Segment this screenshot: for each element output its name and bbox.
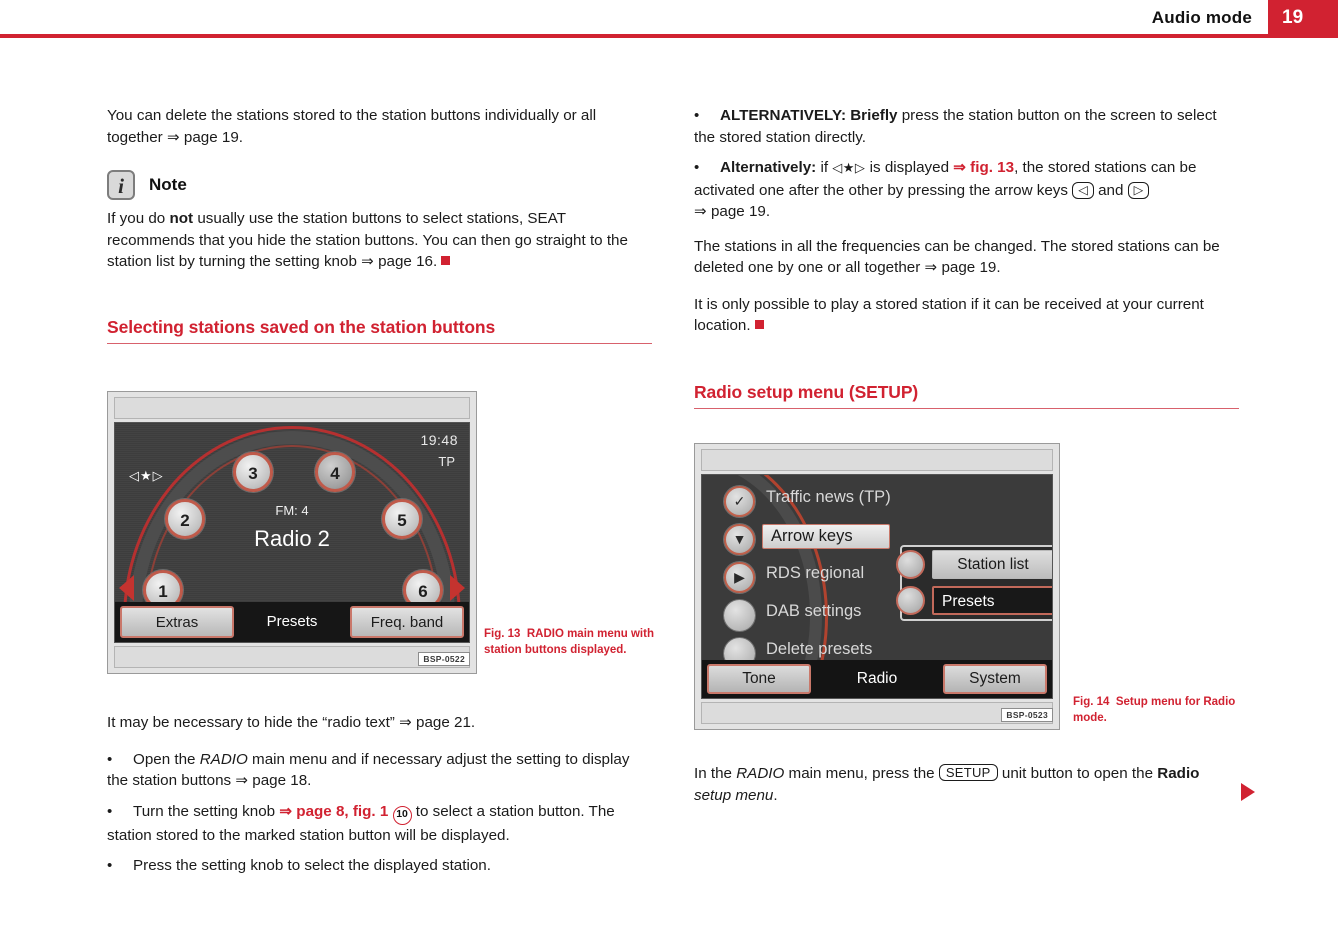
fig13-screen: ◁★▷ 19:48 TP FM: 4 Radio 2 1 2 3 4 5 6 P… — [114, 422, 470, 643]
radio-button-icon[interactable] — [896, 550, 925, 579]
submenu-item-label: Presets — [932, 586, 1053, 615]
softkey-freq-band[interactable]: Freq. band — [350, 606, 464, 638]
station-button-4[interactable]: 4 — [315, 452, 355, 492]
station-button-2[interactable]: 2 — [165, 499, 205, 539]
closing-bold-radio: Radio — [1157, 765, 1199, 782]
info-icon: i — [107, 170, 135, 200]
bullet-1-italic: RADIO — [200, 751, 248, 768]
bullet-dot-icon — [107, 801, 133, 823]
section-heading-radio-setup: Radio setup menu (SETUP) — [694, 382, 1239, 403]
star-nav-indicator: ◁★▷ — [129, 469, 164, 484]
fig13-softkey-row: Presets Extras Freq. band — [115, 602, 469, 642]
bullet-dot-icon — [107, 749, 133, 771]
closing-text-1: In the — [694, 765, 736, 782]
station-button-5[interactable]: 5 — [382, 499, 422, 539]
double-arrow-icon: ⇒ — [167, 129, 180, 146]
section-rule — [107, 343, 652, 344]
bullet-dot-icon — [107, 855, 133, 877]
note-header: i Note — [107, 170, 652, 202]
radio-button-icon[interactable] — [896, 586, 925, 615]
note-bold-not: not — [169, 210, 193, 227]
bullet-alternatively-arrowkeys: Alternatively: if ◁★▷ is displayed ⇒ fig… — [694, 157, 1239, 223]
bullet-alternatively-briefly: ALTERNATIVELY: Briefly press the station… — [694, 105, 1239, 148]
right-paragraph-1: The stations in all the frequencies can … — [694, 236, 1239, 279]
r-bullet-2-bold: Alternatively: — [720, 159, 816, 176]
bullet-turn-setting-knob: Turn the setting knob ⇒ page 8, fig. 1 1… — [107, 801, 652, 847]
intro-text-2: page 19. — [180, 129, 243, 146]
right-column-lower: In the RADIO main menu, press the SETUP … — [694, 763, 1239, 821]
bullet-2-cross-ref[interactable]: ⇒ page 8, fig. 1 — [279, 803, 388, 820]
right-column: ALTERNATIVELY: Briefly press the station… — [694, 105, 1239, 409]
section-rule — [694, 408, 1239, 409]
left-column-lower: It may be necessary to hide the “radio t… — [107, 712, 652, 886]
menu-item-label: Arrow keys — [762, 524, 890, 549]
chevron-right-icon[interactable]: ▶ — [724, 562, 755, 593]
callout-number-10: 10 — [393, 806, 412, 825]
note-label: Note — [149, 175, 187, 195]
figure-14-caption: Fig. 14 Setup menu for Radio mode. — [1073, 695, 1243, 726]
fig13-id-tag: BSP-0522 — [418, 652, 470, 666]
arrow-left-key-icon[interactable]: ◁ — [1072, 182, 1094, 199]
arrow-right-key-icon[interactable]: ▷ — [1128, 182, 1150, 199]
menu-bullet-icon[interactable] — [724, 600, 755, 631]
chevron-down-icon[interactable]: ▼ — [724, 524, 755, 555]
header-rule — [0, 33, 1268, 39]
figure-14-screenshot: ✓ Traffic news (TP) ▼ Arrow keys ▶ RDS r… — [694, 443, 1060, 730]
r-bullet-2-text-1: if — [816, 159, 832, 176]
page-number-block: 19 — [1268, 0, 1338, 38]
bullet-dot-icon — [694, 105, 720, 127]
closing-text-4: . — [773, 787, 777, 804]
setup-key-icon[interactable]: SETUP — [939, 764, 998, 781]
menu-item-label: Traffic news (TP) — [766, 488, 891, 507]
end-of-section-marker — [755, 320, 764, 329]
page-header: Audio mode 19 — [0, 0, 1338, 38]
r-bullet-1-bold: ALTERNATIVELY: Briefly — [720, 107, 898, 124]
closing-text-3: unit button to open the — [998, 765, 1158, 782]
figure-13-caption: Fig. 13 RADIO main menu with station but… — [484, 627, 654, 658]
left-column: You can delete the stations stored to th… — [107, 105, 652, 344]
menu-item-traffic-news[interactable]: ✓ Traffic news (TP) — [702, 485, 1052, 519]
radio-text-paragraph: It may be necessary to hide the “radio t… — [107, 712, 652, 734]
continuation-arrow-icon — [1241, 783, 1255, 801]
note-paragraph: If you do not usually use the station bu… — [107, 208, 652, 273]
page-number: 19 — [1282, 7, 1303, 29]
closing-text-2: main menu, press the — [784, 765, 938, 782]
bullet-3-text: Press the setting knob to select the dis… — [133, 857, 491, 874]
right-paragraph-2: It is only possible to play a stored sta… — [694, 294, 1239, 337]
note-text-1: If you do — [107, 210, 169, 227]
clock-display: 19:48 — [420, 432, 458, 448]
section-heading-stations: Selecting stations saved on the station … — [107, 317, 652, 338]
arrow-keys-submenu: Station list Presets — [900, 545, 1053, 621]
closing-paragraph: In the RADIO main menu, press the SETUP … — [694, 763, 1239, 806]
fig14-id-tag: BSP-0523 — [1001, 708, 1053, 722]
submenu-item-label: Station list — [932, 550, 1053, 579]
fig13-right-arrow-marker — [450, 575, 465, 601]
bullet-dot-icon — [694, 157, 720, 179]
fig13-left-arrow-marker — [119, 575, 134, 601]
bullet-2-text-1: Turn the setting knob — [133, 803, 279, 820]
right-paragraph-2-text: It is only possible to play a stored sta… — [694, 296, 1204, 335]
figure-13-screenshot: ◁★▷ 19:48 TP FM: 4 Radio 2 1 2 3 4 5 6 P… — [107, 391, 477, 674]
station-button-3[interactable]: 3 — [233, 452, 273, 492]
star-nav-symbol-icon: ◁★▷ — [832, 161, 865, 176]
menu-item-label: DAB settings — [766, 602, 861, 621]
bullet-press-setting-knob: Press the setting knob to select the dis… — [107, 855, 652, 877]
closing-italic-radio: RADIO — [736, 765, 784, 782]
softkey-system[interactable]: System — [943, 664, 1047, 694]
bullet-open-radio-menu: Open the RADIO main menu and if necessar… — [107, 749, 652, 792]
checkbox-checked-icon[interactable]: ✓ — [724, 486, 755, 517]
menu-item-label: RDS regional — [766, 564, 864, 583]
softkey-tone[interactable]: Tone — [707, 664, 811, 694]
end-of-section-marker — [441, 256, 450, 265]
bullet-1-text-1: Open the — [133, 751, 200, 768]
fig14-caption-label: Fig. 14 — [1073, 696, 1109, 708]
tp-indicator: TP — [438, 454, 455, 469]
submenu-item-presets[interactable]: Presets — [896, 585, 1053, 617]
r-bullet-2-text-4: ⇒ page 19. — [694, 203, 770, 220]
r-bullet-2-cross-ref[interactable]: ⇒ fig. 13 — [953, 159, 1014, 176]
double-arrow-icon: ⇒ — [361, 253, 374, 270]
note-text-3: page 16. — [374, 253, 437, 270]
menu-item-label: Delete presets — [766, 640, 872, 659]
page-title: Audio mode — [1152, 8, 1252, 28]
intro-paragraph: You can delete the stations stored to th… — [107, 105, 652, 148]
info-icon-glyph: i — [109, 174, 133, 199]
fig14-bezel-top — [701, 449, 1053, 471]
fig13-caption-label: Fig. 13 — [484, 628, 520, 640]
softkey-extras[interactable]: Extras — [120, 606, 234, 638]
closing-italic-setup-menu: setup menu — [694, 787, 773, 804]
r-bullet-2-and: and — [1094, 182, 1128, 199]
fig13-bezel-bottom — [114, 646, 470, 668]
fig13-bezel-top — [114, 397, 470, 419]
fig14-bezel-bottom — [701, 702, 1053, 724]
fig14-softkey-row: Radio Tone System — [702, 660, 1052, 698]
fig14-screen: ✓ Traffic news (TP) ▼ Arrow keys ▶ RDS r… — [701, 474, 1053, 699]
submenu-item-station-list[interactable]: Station list — [896, 549, 1053, 581]
r-bullet-2-text-2: is displayed — [865, 159, 953, 176]
